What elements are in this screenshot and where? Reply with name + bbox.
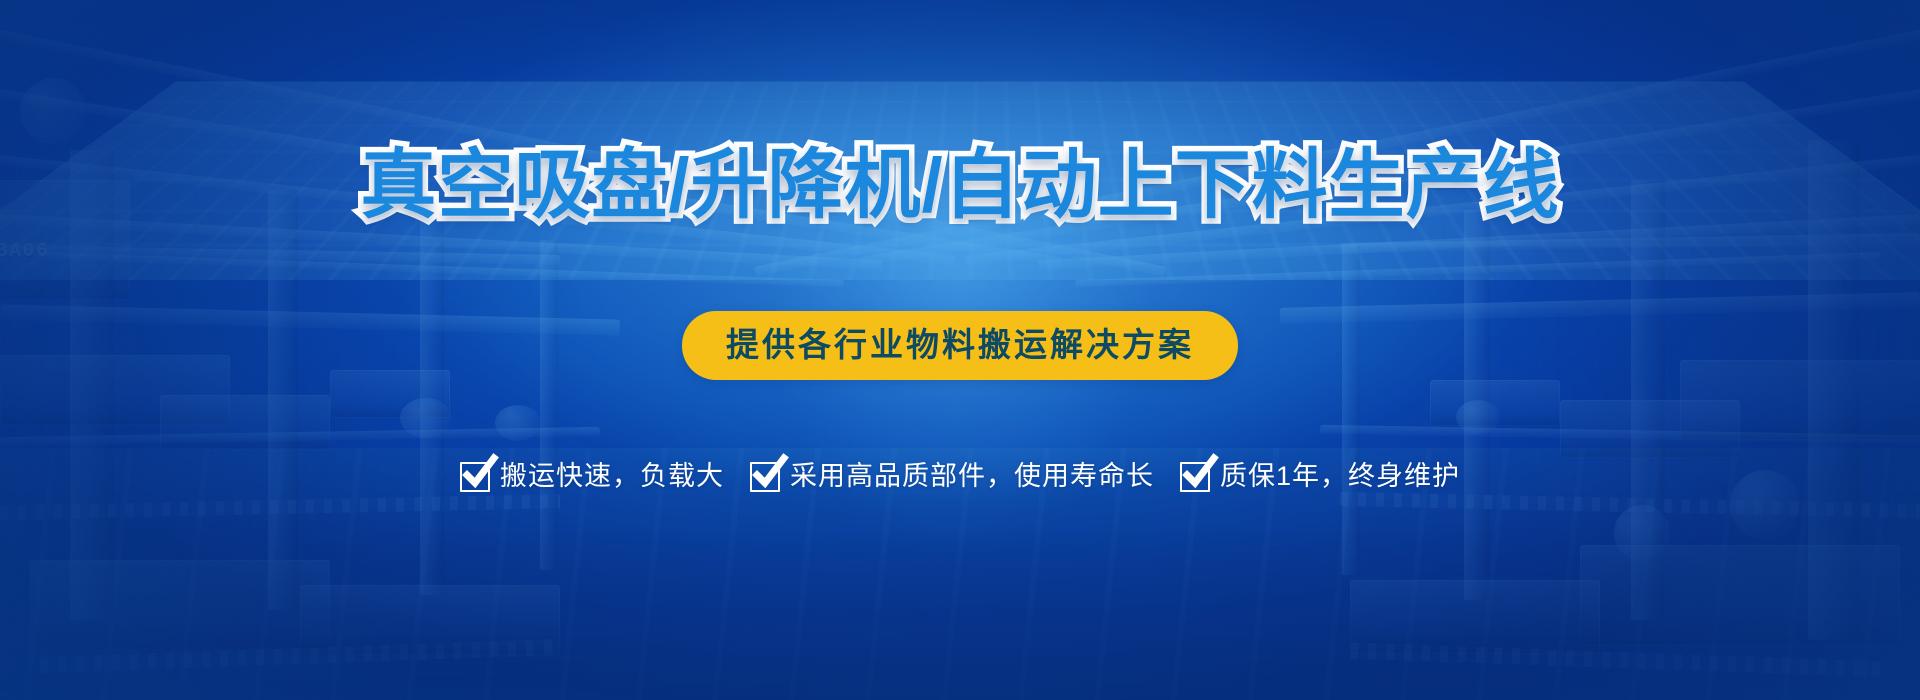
hero-banner: BA06 真空吸盘/升降机/自动上下料生产线 bbox=[0, 0, 1920, 700]
feature-label: 质保1年，终身维护 bbox=[1220, 463, 1460, 490]
feature-item: 质保1年，终身维护 bbox=[1180, 462, 1460, 492]
banner-content: 真空吸盘/升降机/自动上下料生产线 提供各行业物料搬运解决方案 搬运快速，负载大… bbox=[0, 0, 1920, 700]
feature-list: 搬运快速，负载大 采用高品质部件，使用寿命长 质保1年，终身维护 bbox=[460, 462, 1460, 492]
feature-item: 采用高品质部件，使用寿命长 bbox=[750, 462, 1154, 492]
banner-subtitle-pill: 提供各行业物料搬运解决方案 bbox=[682, 311, 1238, 380]
check-box-icon bbox=[750, 462, 780, 492]
banner-headline: 真空吸盘/升降机/自动上下料生产线 bbox=[360, 148, 1559, 224]
feature-item: 搬运快速，负载大 bbox=[460, 462, 724, 492]
feature-label: 采用高品质部件，使用寿命长 bbox=[790, 463, 1154, 490]
check-box-icon bbox=[460, 462, 490, 492]
feature-label: 搬运快速，负载大 bbox=[500, 463, 724, 490]
check-box-icon bbox=[1180, 462, 1210, 492]
